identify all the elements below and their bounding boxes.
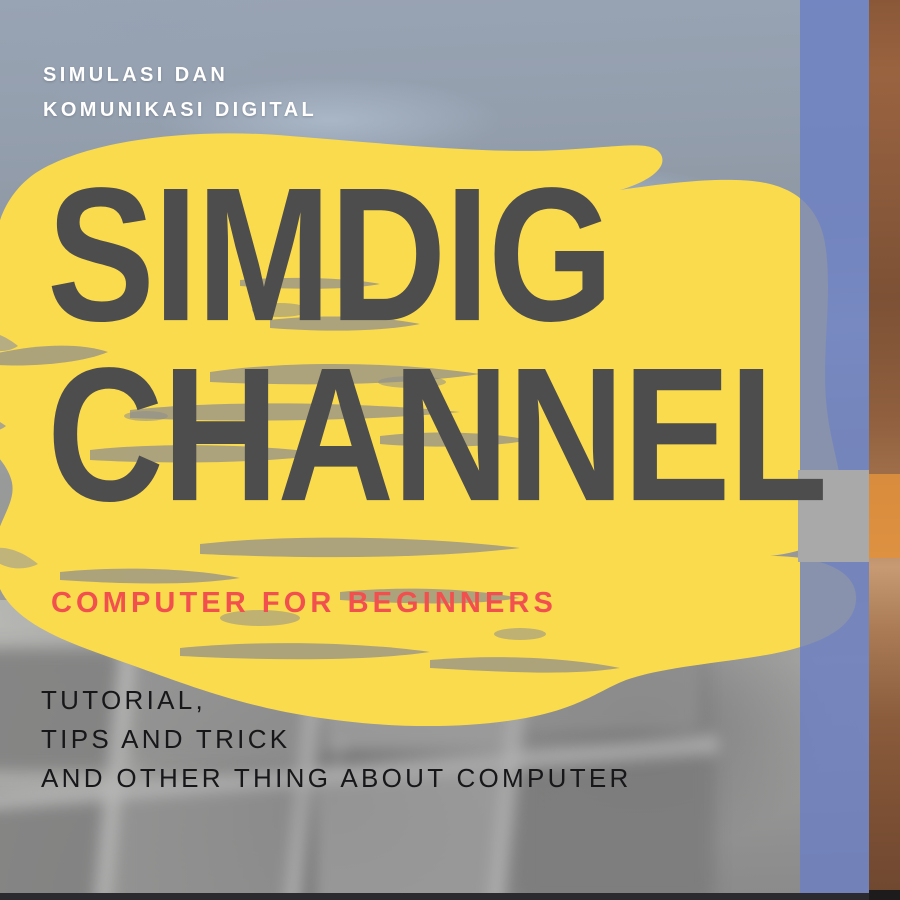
brown-photo-strip — [869, 0, 900, 900]
eyebrow-heading: SIMULASI DAN KOMUNIKASI DIGITAL — [43, 58, 317, 128]
eyebrow-line-2: KOMUNIKASI DIGITAL — [43, 93, 317, 128]
title-line-1: SIMDIG — [47, 178, 612, 334]
orange-overlay-sliver — [869, 474, 900, 558]
eyebrow-line-1: SIMULASI DAN — [43, 58, 317, 93]
tagline-line-3: AND OTHER THING ABOUT COMPUTER — [41, 759, 632, 798]
bottom-dark-edge — [0, 893, 869, 900]
tagline-line-1: TUTORIAL, — [41, 681, 632, 720]
tagline-line-2: TIPS AND TRICK — [41, 720, 632, 759]
tagline-block: TUTORIAL, TIPS AND TRICK AND OTHER THING… — [41, 681, 632, 798]
title-line-2: CHANNEL — [47, 358, 826, 514]
bottom-dark-edge-right — [869, 890, 900, 900]
subtitle: COMPUTER FOR BEGINNERS — [51, 587, 557, 620]
thumbnail-canvas: Z X — [0, 0, 900, 900]
